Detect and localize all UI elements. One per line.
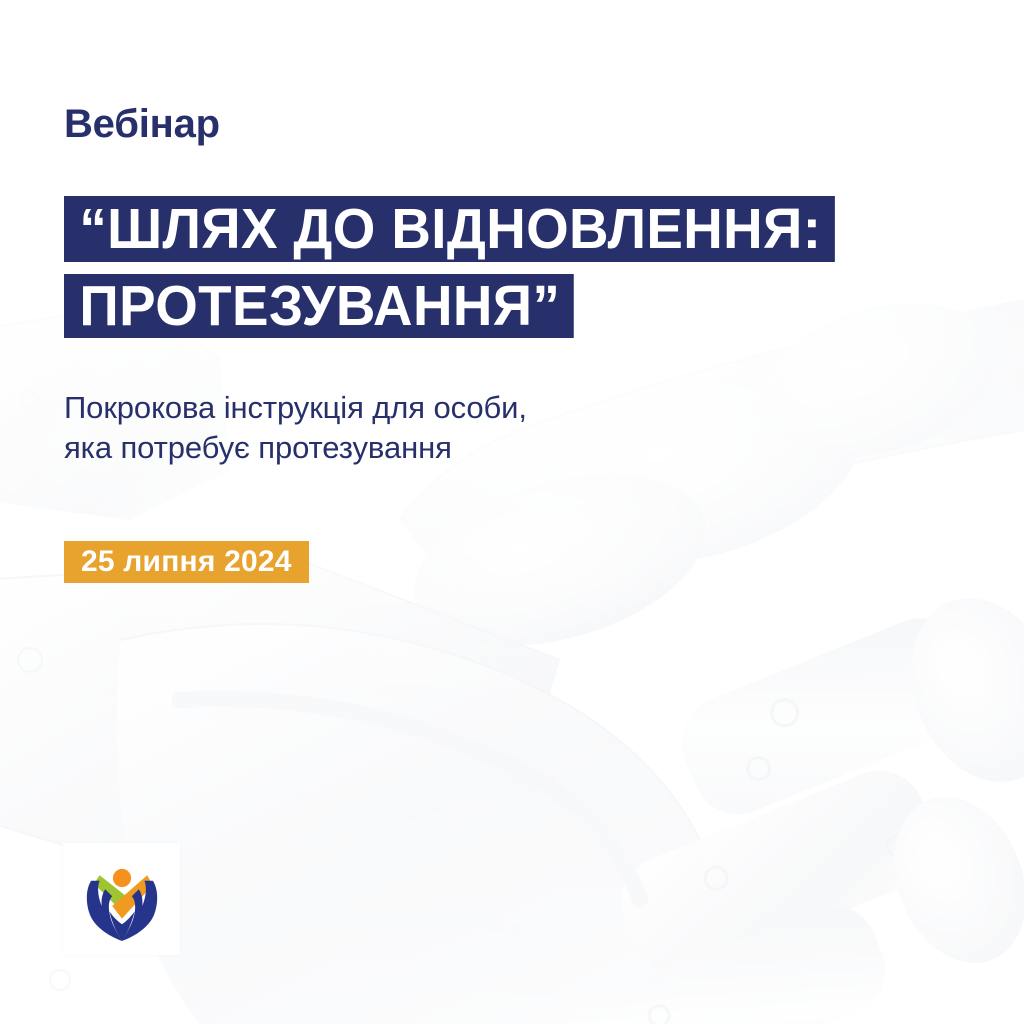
poster-content: Вебінар “ШЛЯХ ДО ВІДНОВЛЕННЯ: ПРОТЕЗУВАН… <box>0 0 1024 1024</box>
hands-with-person-icon <box>80 857 164 941</box>
subtitle-line-2: яка потребує протезування <box>64 428 527 468</box>
webinar-poster: Вебінар “ШЛЯХ ДО ВІДНОВЛЕННЯ: ПРОТЕЗУВАН… <box>0 0 1024 1024</box>
subtitle-line-1: Покрокова інструкція для особи, <box>64 388 527 428</box>
title-line-2: ПРОТЕЗУВАННЯ” <box>64 274 574 338</box>
date-badge: 25 липня 2024 <box>64 541 309 583</box>
kicker-label: Вебінар <box>64 104 220 144</box>
organization-logo <box>63 843 180 955</box>
subtitle: Покрокова інструкція для особи, яка потр… <box>64 388 527 469</box>
title-line-1: “ШЛЯХ ДО ВІДНОВЛЕННЯ: <box>64 196 835 262</box>
